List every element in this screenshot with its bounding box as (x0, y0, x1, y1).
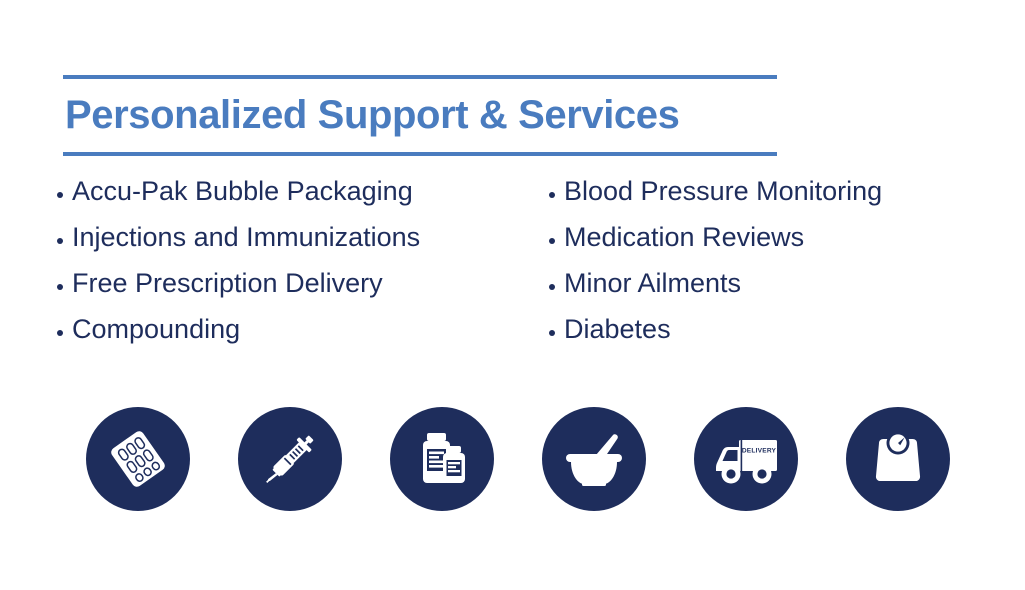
bullet-marker-icon (542, 323, 564, 341)
list-item: Accu-Pak Bubble Packaging (50, 178, 542, 224)
bullet-marker-icon (50, 323, 72, 341)
list-item: Medication Reviews (542, 224, 990, 270)
delivery-truck-icon: DELIVERY (710, 423, 782, 495)
pill-bottles-icon (409, 426, 475, 492)
list-item-label: Injections and Immunizations (72, 224, 420, 251)
services-right-column: Blood Pressure Monitoring Medication Rev… (542, 178, 990, 362)
blister-pack-icon (105, 426, 171, 492)
slide-canvas: Personalized Support & Services Accu-Pak… (0, 0, 1025, 590)
list-item: Free Prescription Delivery (50, 270, 542, 316)
list-item-label: Free Prescription Delivery (72, 270, 383, 297)
weight-scale-icon (865, 426, 931, 492)
icon-badge-delivery-truck: DELIVERY (694, 407, 798, 511)
list-item: Diabetes (542, 316, 990, 362)
page-title: Personalized Support & Services (63, 79, 777, 152)
bullet-marker-icon (50, 185, 72, 203)
list-item-label: Compounding (72, 316, 240, 343)
icon-badge-weight-scale (846, 407, 950, 511)
bullet-marker-icon (542, 277, 564, 295)
bullet-marker-icon (542, 185, 564, 203)
bullet-marker-icon (50, 231, 72, 249)
list-item-label: Medication Reviews (564, 224, 804, 251)
list-item-label: Blood Pressure Monitoring (564, 178, 882, 205)
title-rule-bottom (63, 152, 777, 156)
list-item: Blood Pressure Monitoring (542, 178, 990, 224)
delivery-truck-label: DELIVERY (742, 448, 777, 455)
bullet-marker-icon (542, 231, 564, 249)
icon-badge-syringe (238, 407, 342, 511)
services-left-column: Accu-Pak Bubble Packaging Injections and… (50, 178, 542, 362)
icon-badge-blister-pack (86, 407, 190, 511)
list-item-label: Accu-Pak Bubble Packaging (72, 178, 413, 205)
services-columns: Accu-Pak Bubble Packaging Injections and… (50, 178, 990, 362)
header-block: Personalized Support & Services (63, 75, 777, 156)
list-item: Compounding (50, 316, 542, 362)
service-icon-row: DELIVERY (86, 407, 962, 511)
icon-badge-mortar-and-pestle (542, 407, 646, 511)
mortar-and-pestle-icon (560, 425, 628, 493)
list-item: Minor Ailments (542, 270, 990, 316)
bullet-marker-icon (50, 277, 72, 295)
list-item-label: Minor Ailments (564, 270, 741, 297)
syringe-icon (257, 426, 323, 492)
list-item: Injections and Immunizations (50, 224, 542, 270)
icon-badge-pill-bottles (390, 407, 494, 511)
list-item-label: Diabetes (564, 316, 671, 343)
